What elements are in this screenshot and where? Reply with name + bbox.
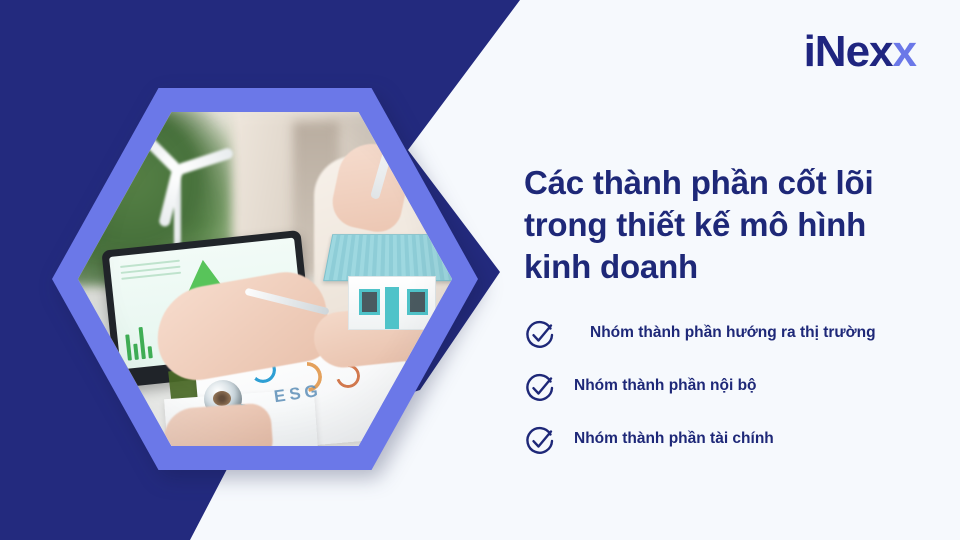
- list-item-label: Nhóm thành phần tài chính: [574, 424, 774, 450]
- check-circle-icon: [524, 372, 556, 404]
- list-item: Nhóm thành phần nội bộ: [524, 371, 934, 404]
- list-item-label: Nhóm thành phần nội bộ: [574, 371, 757, 397]
- list-item: Nhóm thành phần hướng ra thị trường: [524, 318, 934, 351]
- page-title-line-1: Các thành phần cốt lõi: [524, 162, 928, 204]
- check-circle-icon: [524, 319, 556, 351]
- slide-canvas: ESG ESG: [0, 0, 960, 540]
- logo-text-secondary: ex: [846, 27, 893, 76]
- logo-text-accent: x: [893, 27, 916, 76]
- hexagon-image-frame: ESG ESG: [52, 88, 478, 470]
- list-item-label: Nhóm thành phần hướng ra thị trường: [574, 318, 876, 344]
- logo-text-primary: iN: [804, 27, 846, 76]
- page-title: Các thành phần cốt lõi trong thiết kế mô…: [524, 162, 928, 289]
- brand-logo[interactable]: iNexx: [804, 30, 916, 74]
- page-title-line-2: trong thiết kế mô hình: [524, 204, 928, 246]
- check-circle-icon: [524, 425, 556, 457]
- page-title-line-3: kinh doanh: [524, 246, 928, 288]
- bullet-list: Nhóm thành phần hướng ra thị trường Nhóm…: [524, 318, 934, 457]
- list-item: Nhóm thành phần tài chính: [524, 424, 934, 457]
